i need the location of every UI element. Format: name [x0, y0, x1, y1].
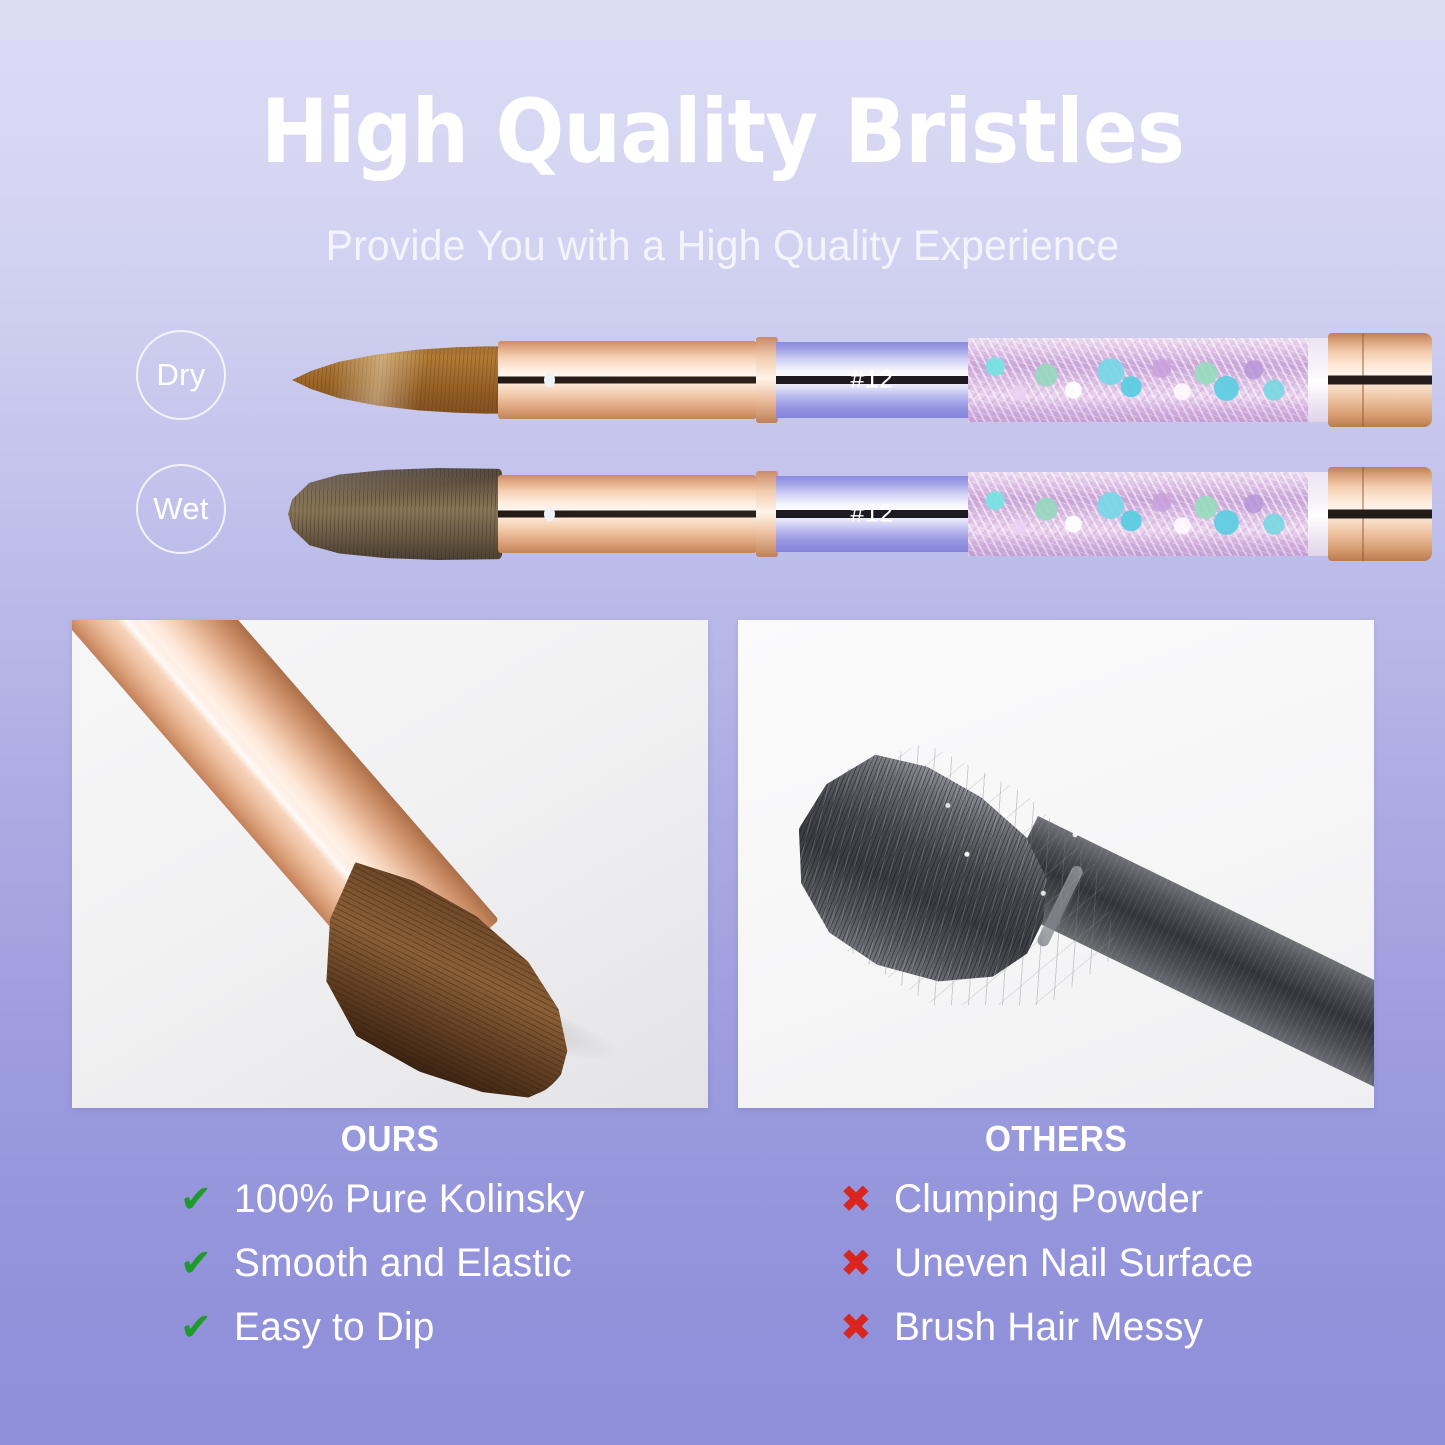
ferrule-wet — [498, 475, 758, 553]
bristle-head-dry — [292, 339, 502, 421]
feature-label: Brush Hair Messy — [894, 1305, 1203, 1350]
ferrule-highlight-icon — [544, 373, 555, 388]
glitter-barrel-end-dry — [1308, 338, 1328, 422]
handle-metal-wet: #12 — [776, 476, 968, 552]
check-icon: ✔ — [180, 1180, 234, 1218]
list-item: ✖ Clumping Powder — [840, 1168, 1400, 1230]
list-item: ✔ Smooth and Elastic — [180, 1232, 740, 1294]
list-item: ✔ 100% Pure Kolinsky — [180, 1168, 740, 1230]
powder-speck-icon — [738, 620, 1374, 1108]
list-item: ✖ Brush Hair Messy — [840, 1296, 1400, 1358]
collar-wet — [756, 471, 778, 557]
feature-list-others: ✖ Clumping Powder ✖ Uneven Nail Surface … — [840, 1168, 1400, 1360]
ferrule-dry — [498, 341, 758, 419]
check-icon: ✔ — [180, 1244, 234, 1282]
collar-dry — [756, 337, 778, 423]
column-heading-ours: OURS — [94, 1118, 685, 1160]
state-badge-wet: Wet — [136, 464, 226, 554]
brush-row-wet: Wet #12 — [0, 444, 1445, 584]
brush-illustration-dry: #12 — [270, 310, 1390, 450]
end-cap-wet — [1328, 467, 1432, 561]
feature-label: Smooth and Elastic — [234, 1241, 572, 1286]
cross-icon: ✖ — [840, 1244, 894, 1282]
feature-label: 100% Pure Kolinsky — [234, 1177, 585, 1222]
brush-size-label-dry: #12 — [776, 368, 968, 393]
feature-list-ours: ✔ 100% Pure Kolinsky ✔ Smooth and Elasti… — [180, 1168, 740, 1360]
state-badge-dry: Dry — [136, 330, 226, 420]
page-title: High Quality Bristles — [58, 86, 1387, 178]
brush-row-dry: Dry #12 — [0, 310, 1445, 450]
feature-label: Uneven Nail Surface — [894, 1241, 1254, 1286]
end-cap-seam-icon — [1362, 467, 1364, 561]
feature-label: Easy to Dip — [234, 1305, 435, 1350]
state-badge-dry-label: Dry — [156, 357, 205, 393]
feature-label: Clumping Powder — [894, 1177, 1203, 1222]
end-cap-dry — [1328, 333, 1432, 427]
page-subtitle: Provide You with a High Quality Experien… — [36, 222, 1409, 271]
check-icon: ✔ — [180, 1308, 234, 1346]
glitter-barrel-dry — [968, 338, 1308, 422]
state-badge-wet-label: Wet — [153, 491, 208, 527]
glitter-barrel-end-wet — [1308, 472, 1328, 556]
brush-illustration-wet: #12 — [270, 444, 1390, 584]
bristle-head-wet — [288, 468, 502, 560]
list-item: ✔ Easy to Dip — [180, 1296, 740, 1358]
cross-icon: ✖ — [840, 1180, 894, 1218]
brush-size-label-wet: #12 — [776, 502, 968, 527]
cross-icon: ✖ — [840, 1308, 894, 1346]
end-cap-seam-icon — [1362, 333, 1364, 427]
column-heading-others: OTHERS — [760, 1118, 1351, 1160]
list-item: ✖ Uneven Nail Surface — [840, 1232, 1400, 1294]
photo-ours — [72, 620, 708, 1108]
photo-others — [738, 620, 1374, 1108]
handle-metal-dry: #12 — [776, 342, 968, 418]
glitter-barrel-wet — [968, 472, 1308, 556]
infographic-page: High Quality Bristles Provide You with a… — [0, 0, 1445, 1445]
ferrule-highlight-icon — [544, 507, 555, 522]
